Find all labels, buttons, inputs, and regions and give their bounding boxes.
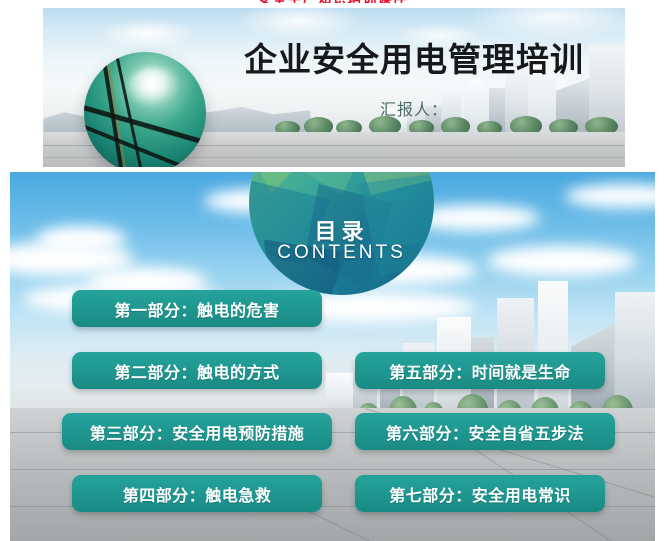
- presenter-label: 汇报人：: [219, 96, 609, 120]
- sphere-seam: [84, 103, 206, 147]
- plaza-line: [10, 469, 655, 470]
- toc-button-part-2[interactable]: 第二部分：触电的方式: [72, 352, 322, 389]
- toc-button-part-5[interactable]: 第五部分：时间就是生命: [355, 352, 605, 389]
- cloud-shape: [487, 246, 637, 276]
- contents-slide: 目录 CONTENTS 第一部分：触电的危害 第二部分：触电的方式 第三部分：安…: [10, 172, 655, 541]
- toc-button-part-3[interactable]: 第三部分：安全用电预防措施: [62, 413, 332, 450]
- sphere-highlight: [128, 67, 179, 106]
- cloud-shape: [565, 184, 655, 208]
- toc-button-part-7[interactable]: 第七部分：安全用电常识: [355, 475, 605, 512]
- title-slide: 企业安全用电管理培训 汇报人：: [43, 8, 625, 167]
- presentation-title: 企业安全用电管理培训: [219, 33, 609, 81]
- top-headline-text: 安全生产知识培训课件: [0, 0, 665, 3]
- contents-circle-badge: 目录 CONTENTS: [249, 172, 434, 295]
- cloud-shape: [36, 226, 126, 252]
- green-sphere-graphic: [84, 52, 206, 167]
- toc-button-part-4[interactable]: 第四部分：触电急救: [72, 475, 322, 512]
- toc-button-part-6[interactable]: 第六部分：安全自省五步法: [355, 413, 615, 450]
- contents-circle-en-label: CONTENTS: [249, 242, 434, 264]
- toc-button-part-1[interactable]: 第一部分：触电的危害: [72, 290, 322, 327]
- sphere-seam: [100, 52, 126, 167]
